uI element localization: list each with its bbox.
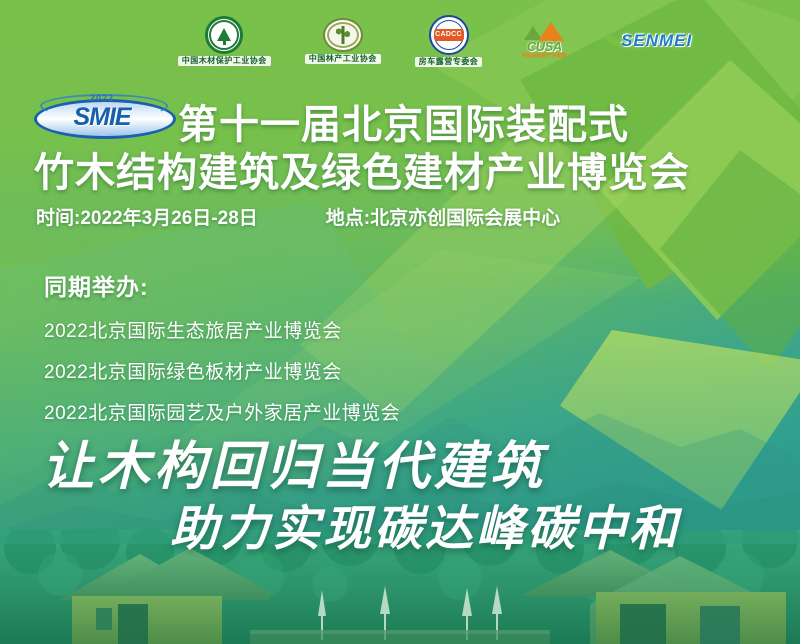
smie-logo: 2022 SMIE — [34, 93, 170, 139]
exhibition-poster: 中国木材保护工业协会 中国林产工业协会 CADCC 房车露营专委会 CUSA — [0, 0, 800, 644]
concurrent-events-heading: 同期举办: — [44, 268, 400, 302]
smie-year: 2022 — [34, 93, 170, 103]
concurrent-event-item: 2022北京国际园艺及户外家居产业博览会 — [44, 398, 400, 425]
logo-label: 中国木材保护工业协会 — [178, 56, 271, 66]
tree-seal-icon — [205, 16, 243, 54]
logo-senmei: SENMEI — [606, 26, 692, 56]
smie-abbr: SMIE — [34, 103, 170, 132]
event-venue: 地点:北京亦创国际会展中心 — [326, 203, 560, 230]
concurrent-events-section: 同期举办: 2022北京国际生态旅居产业博览会 2022北京国际绿色板材产业博览… — [44, 268, 400, 439]
logo-bamboo-industry-association: 中国林产工业协会 — [305, 18, 381, 64]
slogan-line2: 助力实现碳达峰碳中和 — [170, 489, 680, 559]
logo-china-wood-protection-association: 中国木材保护工业协会 — [178, 16, 271, 66]
concurrent-event-item: 2022北京国际生态旅居产业博览会 — [44, 316, 400, 343]
concurrent-event-item: 2022北京国际绿色板材产业博览会 — [44, 357, 400, 384]
logo-label: 中国木结构产业联盟 — [516, 52, 572, 59]
slogan-line1: 让木构回归当代建筑 — [42, 424, 546, 499]
event-date: 时间:2022年3月26日-28日 — [36, 203, 258, 230]
cadcc-seal-icon: CADCC — [429, 15, 469, 55]
logo-label: 房车露营专委会 — [415, 57, 483, 67]
house-roof-icon: CUSA 中国木结构产业联盟 — [516, 22, 572, 60]
event-meta: 时间:2022年3月26日-28日 地点:北京亦创国际会展中心 — [36, 203, 776, 230]
association-logo-bar: 中国木材保护工业协会 中国林产工业协会 CADCC 房车露营专委会 CUSA — [0, 0, 800, 82]
logo-cusa-china-wood-structure-alliance: CUSA 中国木结构产业联盟 — [516, 22, 572, 60]
logo-cadcc-rv-camping-committee: CADCC 房车露营专委会 — [415, 15, 483, 67]
logo-abbr: SENMEI — [621, 31, 692, 51]
page-title-line2: 竹木结构建筑及绿色建材产业博览会 — [34, 140, 690, 198]
logo-label: 中国林产工业协会 — [305, 54, 381, 64]
leaf-icon: SENMEI — [606, 26, 692, 56]
bamboo-seal-icon — [323, 18, 363, 52]
logo-abbr: CADCC — [434, 29, 464, 41]
